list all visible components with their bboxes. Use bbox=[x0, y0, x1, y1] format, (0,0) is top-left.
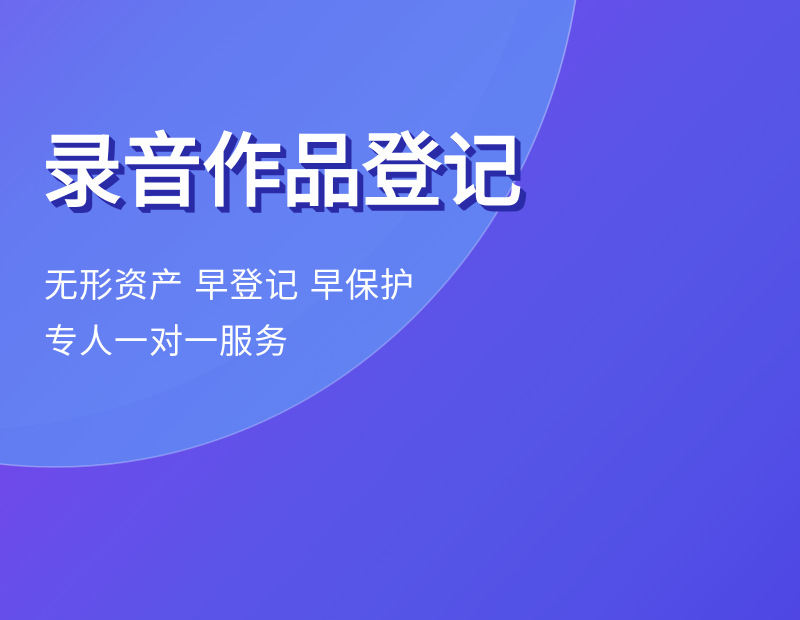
banner-subtitle-line-1: 无形资产 早登记 早保护 bbox=[44, 258, 415, 314]
banner-content: 录音作品登记 无形资产 早登记 早保护 专人一对一服务 bbox=[42, 0, 602, 620]
banner-subtitle-group: 无形资产 早登记 早保护 专人一对一服务 bbox=[44, 258, 415, 370]
banner-subtitle-line-2: 专人一对一服务 bbox=[44, 314, 415, 370]
promo-banner: 录音作品登记 无形资产 早登记 早保护 专人一对一服务 bbox=[0, 0, 800, 620]
banner-headline: 录音作品登记 bbox=[42, 126, 522, 218]
